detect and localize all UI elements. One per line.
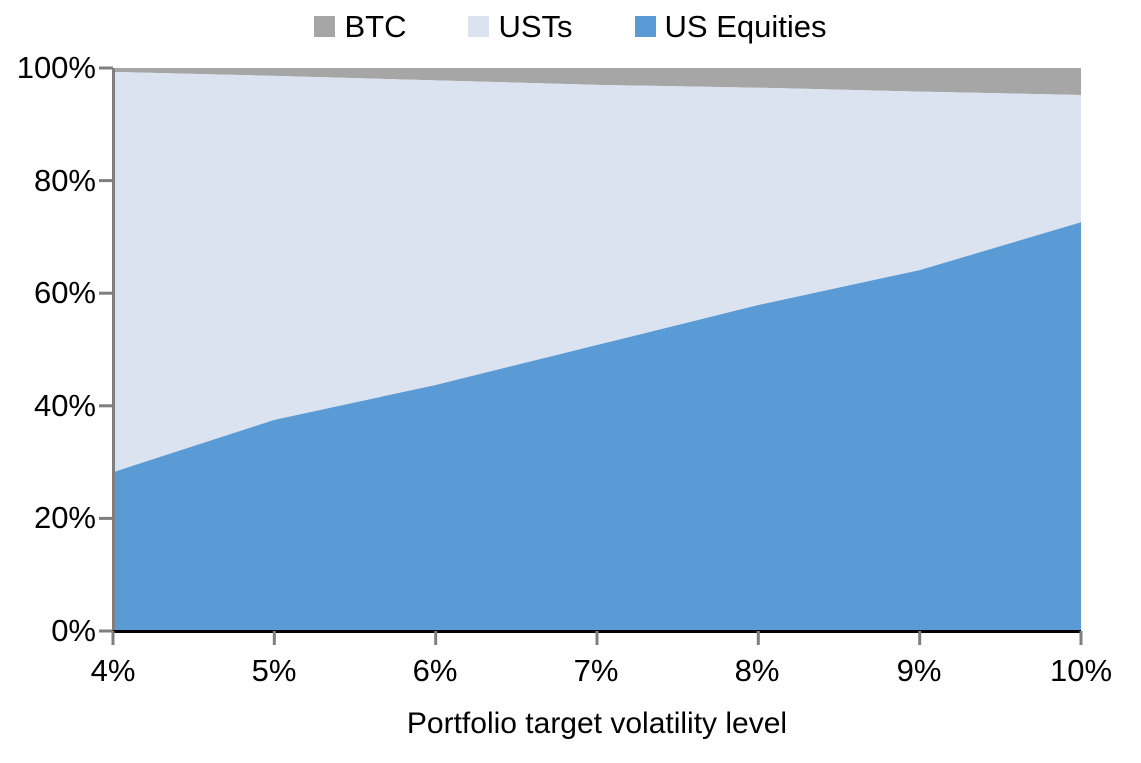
x-tick-label-9: 9% xyxy=(859,655,979,686)
x-axis-tick-marks xyxy=(113,631,1081,645)
x-tick-label-10: 10% xyxy=(1021,655,1141,686)
y-tick-label-100: 100% xyxy=(0,52,96,83)
x-axis-title: Portfolio target volatility level xyxy=(113,708,1081,740)
stacked-area-chart xyxy=(0,0,1141,763)
y-tick-label-20: 20% xyxy=(0,502,96,533)
chart-plot-area: 0% 20% 40% 60% 80% 100% 4% 5% 6% 7% 8% 9… xyxy=(0,0,1141,763)
x-tick-label-5: 5% xyxy=(214,655,334,686)
y-tick-label-40: 40% xyxy=(0,390,96,421)
y-tick-label-60: 60% xyxy=(0,277,96,308)
x-tick-label-8: 8% xyxy=(697,655,817,686)
y-tick-label-0: 0% xyxy=(0,615,96,646)
x-tick-label-7: 7% xyxy=(536,655,656,686)
y-axis-tick-marks xyxy=(99,68,113,631)
y-tick-label-80: 80% xyxy=(0,165,96,196)
x-tick-label-4: 4% xyxy=(53,655,173,686)
x-tick-label-6: 6% xyxy=(375,655,495,686)
